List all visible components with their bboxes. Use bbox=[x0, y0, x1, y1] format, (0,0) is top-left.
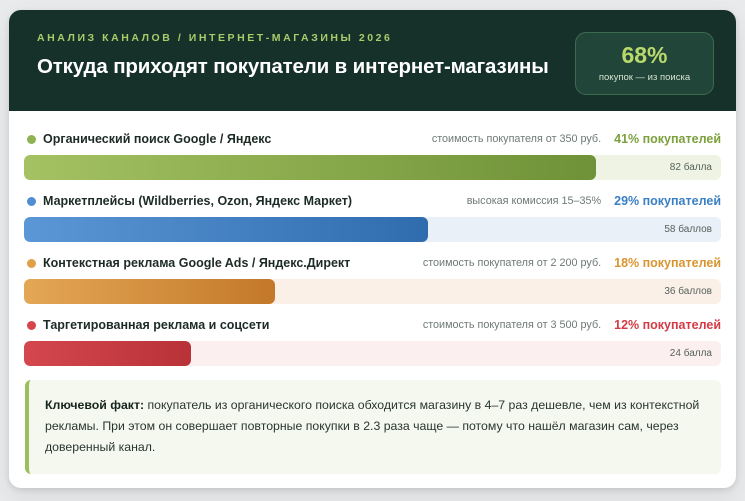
channel-meta: стоимость покупателя от 3 500 руб. bbox=[423, 319, 601, 331]
channel-row: Маркетплейсы (Wildberries, Ozon, Яндекс … bbox=[24, 192, 721, 242]
key-fact-lead: Ключевой факт: bbox=[45, 398, 144, 412]
channel-row-header: Контекстная реклама Google Ads / Яндекс.… bbox=[24, 254, 721, 272]
channel-label: Органический поиск Google / Яндекс bbox=[43, 132, 271, 146]
key-fact-body: покупатель из органического поиска обход… bbox=[45, 398, 699, 454]
channel-bar-track: 82 балла bbox=[24, 155, 721, 180]
channel-row: Таргетированная реклама и соцсетистоимос… bbox=[24, 316, 721, 366]
channel-bar-track: 24 балла bbox=[24, 341, 721, 366]
channel-meta: высокая комиссия 15–35% bbox=[467, 195, 601, 207]
header-text-block: АНАЛИЗ КАНАЛОВ / ИНТЕРНЕТ-МАГАЗИНЫ 2026 … bbox=[37, 32, 597, 79]
channel-bar-fill bbox=[24, 155, 596, 180]
channel-bar-list: Органический поиск Google / Яндексстоимо… bbox=[9, 111, 736, 366]
channel-meta: стоимость покупателя от 350 руб. bbox=[432, 133, 601, 145]
channel-label: Контекстная реклама Google Ads / Яндекс.… bbox=[43, 256, 350, 270]
channel-color-dot bbox=[27, 197, 36, 206]
channel-label: Маркетплейсы (Wildberries, Ozon, Яндекс … bbox=[43, 194, 352, 208]
channel-row-header: Таргетированная реклама и соцсетистоимос… bbox=[24, 316, 721, 334]
key-fact-note: Ключевой факт: покупатель из органическо… bbox=[25, 380, 721, 474]
channel-score: 24 балла bbox=[670, 341, 712, 366]
channel-score: 58 баллов bbox=[664, 217, 712, 242]
key-fact-text: Ключевой факт: покупатель из органическо… bbox=[45, 395, 701, 458]
highlight-badge: 68% покупок — из поиска bbox=[575, 32, 714, 95]
channel-row-header: Органический поиск Google / Яндексстоимо… bbox=[24, 130, 721, 148]
channel-share: 29% покупателей bbox=[614, 194, 721, 208]
channel-bar-track: 36 баллов bbox=[24, 279, 721, 304]
channel-row: Контекстная реклама Google Ads / Яндекс.… bbox=[24, 254, 721, 304]
channel-share: 18% покупателей bbox=[614, 256, 721, 270]
channel-bar-track: 58 баллов bbox=[24, 217, 721, 242]
channel-color-dot bbox=[27, 135, 36, 144]
channel-row-header: Маркетплейсы (Wildberries, Ozon, Яндекс … bbox=[24, 192, 721, 210]
infographic-card: АНАЛИЗ КАНАЛОВ / ИНТЕРНЕТ-МАГАЗИНЫ 2026 … bbox=[9, 10, 736, 488]
channel-color-dot bbox=[27, 259, 36, 268]
channel-color-dot bbox=[27, 321, 36, 330]
channel-meta: стоимость покупателя от 2 200 руб. bbox=[423, 257, 601, 269]
channel-bar-fill bbox=[24, 217, 428, 242]
page-title: Откуда приходят покупатели в интернет-ма… bbox=[37, 55, 597, 79]
badge-value: 68% bbox=[621, 44, 667, 67]
channel-label: Таргетированная реклама и соцсети bbox=[43, 318, 269, 332]
header-eyebrow: АНАЛИЗ КАНАЛОВ / ИНТЕРНЕТ-МАГАЗИНЫ 2026 bbox=[37, 32, 597, 44]
channel-score: 36 баллов bbox=[664, 279, 712, 304]
card-header: АНАЛИЗ КАНАЛОВ / ИНТЕРНЕТ-МАГАЗИНЫ 2026 … bbox=[9, 10, 736, 111]
channel-share: 41% покупателей bbox=[614, 132, 721, 146]
channel-row: Органический поиск Google / Яндексстоимо… bbox=[24, 130, 721, 180]
channel-bar-fill bbox=[24, 279, 275, 304]
channel-score: 82 балла bbox=[670, 155, 712, 180]
channel-bar-fill bbox=[24, 341, 191, 366]
badge-label: покупок — из поиска bbox=[599, 72, 690, 83]
channel-share: 12% покупателей bbox=[614, 318, 721, 332]
